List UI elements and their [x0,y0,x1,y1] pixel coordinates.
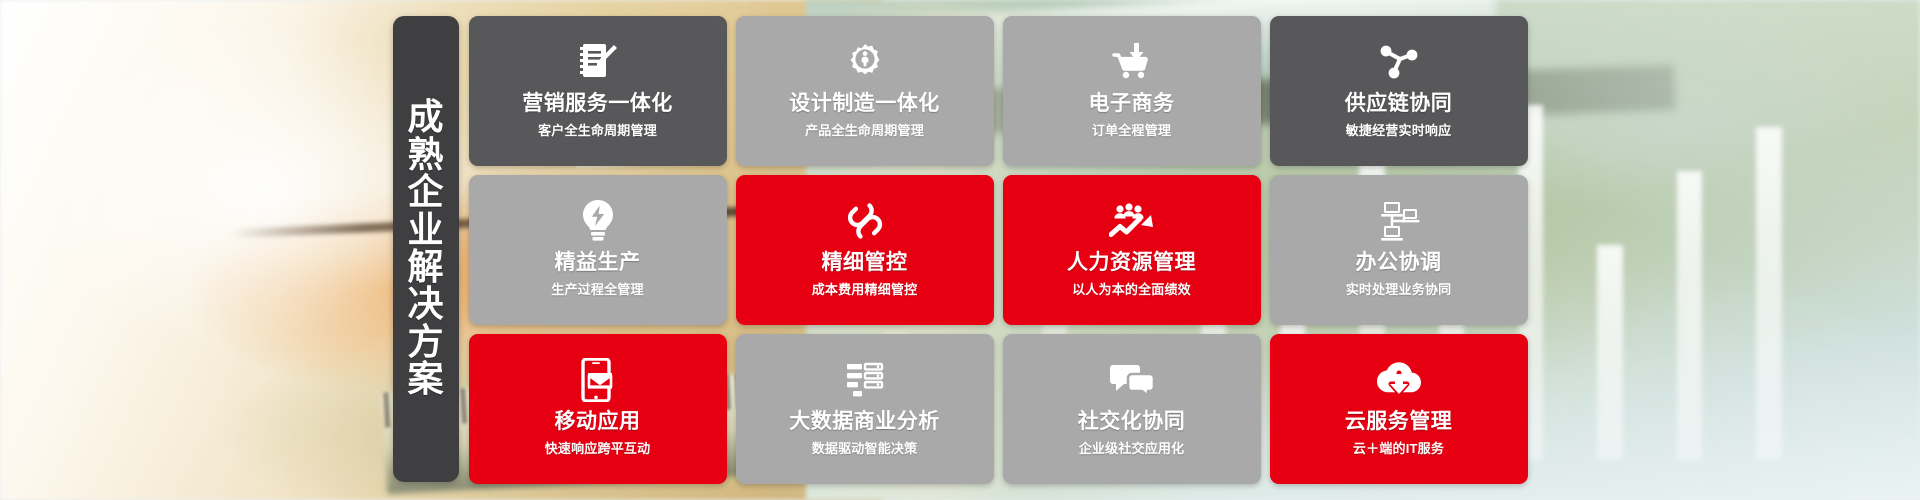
page-title-char: 方 [407,323,443,360]
solution-card-title: 电子商务 [1089,92,1175,115]
solution-card-7[interactable]: 人力资源管理以人为本的全面绩效 [1003,175,1261,325]
solution-card-2[interactable]: 设计制造一体化产品全生命周期管理 [736,16,994,166]
solution-card-11[interactable]: 社交化协同企业级社交应用化 [1003,334,1261,484]
network-nodes-icon [1378,39,1420,85]
solution-card-9[interactable]: 移动应用快速响应跨平互动 [469,334,727,484]
shopping-cart-download-icon [1111,39,1153,85]
mobile-message-icon [581,357,615,403]
solution-card-title: 精细管控 [822,251,908,274]
page-title-char: 企 [407,173,443,210]
page-title-char: 熟 [407,136,443,173]
solution-card-10[interactable]: 大数据商业分析数据驱动智能决策 [736,334,994,484]
people-growth-arrow-icon [1109,198,1155,244]
page-title-char: 解 [407,248,443,285]
solution-card-title: 精益生产 [555,251,641,274]
chain-link-icon [847,198,883,244]
server-database-icon [845,357,885,403]
gear-person-icon [845,39,885,85]
page-title: 成熟企业解决方案 [393,16,459,482]
solution-card-subtitle: 快速响应跨平互动 [545,438,651,457]
solution-card-subtitle: 成本费用精细管控 [812,279,918,298]
solution-card-subtitle: 数据驱动智能决策 [812,438,918,457]
page-title-char: 决 [407,285,443,322]
solution-card-3[interactable]: 电子商务订单全程管理 [1003,16,1261,166]
solution-card-subtitle: 实时处理业务协同 [1346,279,1452,298]
page-title-char: 案 [407,360,443,397]
solution-card-title: 云服务管理 [1345,410,1453,433]
networked-computers-icon [1376,198,1422,244]
solution-card-subtitle: 敏捷经营实时响应 [1346,120,1452,139]
solution-card-subtitle: 产品全生命周期管理 [805,120,924,139]
solution-card-5[interactable]: 精益生产生产过程全管理 [469,175,727,325]
solution-card-4[interactable]: 供应链协同敏捷经营实时响应 [1270,16,1528,166]
solution-card-title: 设计制造一体化 [789,92,940,115]
solution-card-title: 人力资源管理 [1067,251,1196,274]
solution-card-subtitle: 客户全生命周期管理 [538,120,657,139]
solution-card-subtitle: 云＋端的IT服务 [1353,438,1444,457]
lightbulb-bolt-icon [580,198,616,244]
solution-card-title: 供应链协同 [1345,92,1453,115]
cloud-download-icon [1376,357,1422,403]
solution-card-subtitle: 以人为本的全面绩效 [1072,279,1191,298]
solution-card-title: 大数据商业分析 [789,410,940,433]
solution-card-title: 社交化协同 [1078,410,1186,433]
page-title-char: 业 [407,211,443,248]
solution-card-grid: 营销服务一体化客户全生命周期管理设计制造一体化产品全生命周期管理电子商务订单全程… [469,16,1528,484]
solution-card-6[interactable]: 精细管控成本费用精细管控 [736,175,994,325]
solution-card-title: 营销服务一体化 [522,92,673,115]
solution-card-8[interactable]: 办公协调实时处理业务协同 [1270,175,1528,325]
solution-card-subtitle: 订单全程管理 [1092,120,1171,139]
clipboard-pencil-icon [578,39,618,85]
solution-card-12[interactable]: 云服务管理云＋端的IT服务 [1270,334,1528,484]
solutions-panel: 成熟企业解决方案 营销服务一体化客户全生命周期管理设计制造一体化产品全生命周期管… [393,16,1528,484]
solution-card-1[interactable]: 营销服务一体化客户全生命周期管理 [469,16,727,166]
solution-card-subtitle: 生产过程全管理 [551,279,643,298]
solution-card-title: 办公协调 [1356,251,1442,274]
solution-card-title: 移动应用 [555,410,641,433]
solution-card-subtitle: 企业级社交应用化 [1079,438,1185,457]
chat-bubbles-icon [1110,357,1154,403]
page-title-char: 成 [407,98,443,135]
